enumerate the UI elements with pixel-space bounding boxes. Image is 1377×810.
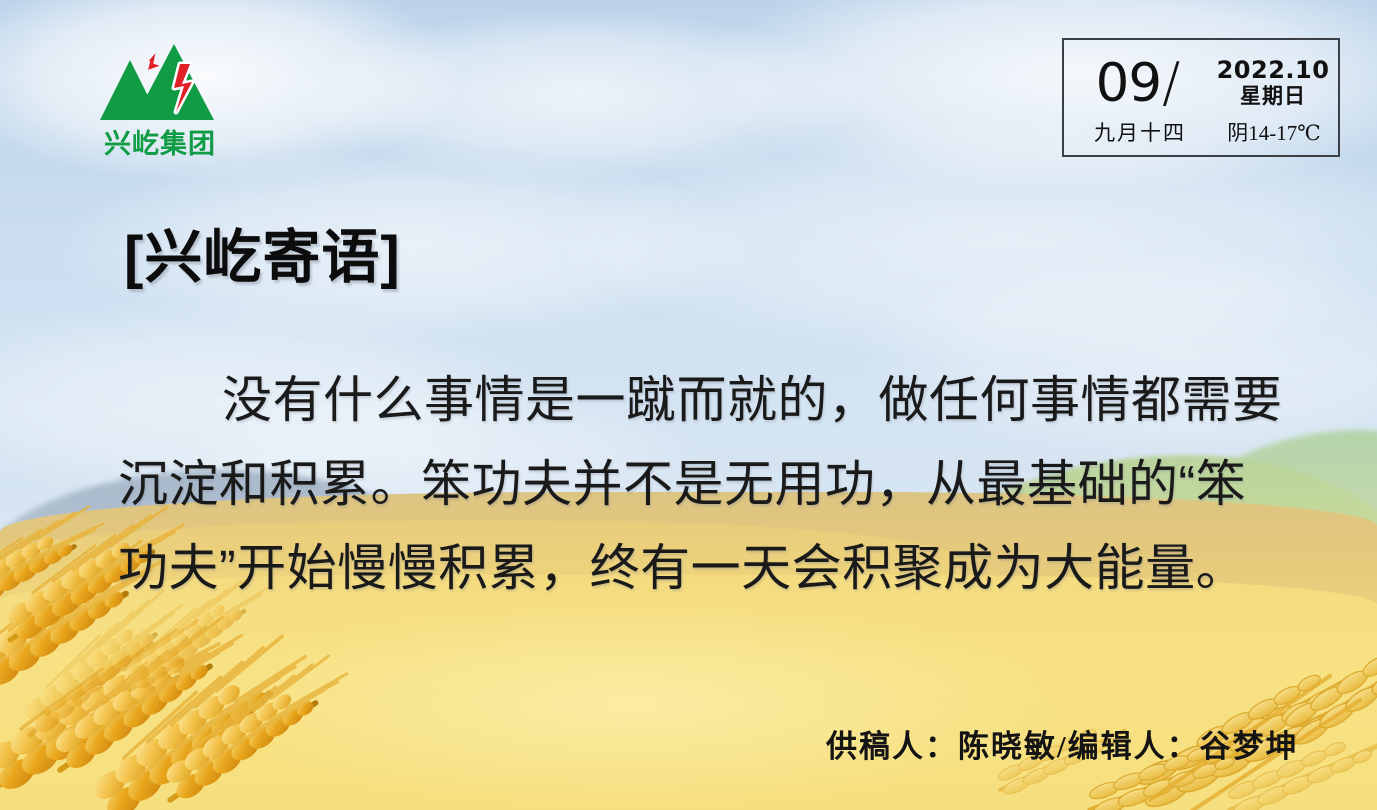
body-line-text: 没有什么事情是一蹴而就的，做任何事情都需要 — [222, 372, 1283, 428]
day-number: 09 — [1096, 57, 1161, 110]
poster-canvas: 兴屹集团 09 / 2022.10 星期日 九月十四 阴14-17℃ [兴屹寄语… — [0, 0, 1377, 810]
day-slash: / — [1162, 56, 1180, 110]
company-logo[interactable]: 兴屹集团 — [92, 38, 228, 164]
weather-info: 阴14-17℃ — [1216, 121, 1338, 145]
logo-wordmark: 兴屹集团 — [92, 128, 228, 160]
date-badge-bottom-row: 九月十四 阴14-17℃ — [1064, 121, 1338, 145]
day-group: 09 / — [1064, 56, 1212, 110]
lunar-date: 九月十四 — [1064, 121, 1216, 145]
body-line: 功夫”开始慢慢积累，终有一天会积聚成为大能量。 — [118, 526, 1318, 610]
body-line: 沉淀和积累。笨功夫并不是无用功，从最基础的“笨 — [118, 442, 1318, 526]
body-line: 没有什么事情是一蹴而就的，做任何事情都需要 — [118, 358, 1318, 442]
weekday: 星期日 — [1240, 84, 1306, 109]
body-copy: 没有什么事情是一蹴而就的，做任何事情都需要 沉淀和积累。笨功夫并不是无用功，从最… — [118, 358, 1318, 610]
field-highlight — [180, 600, 1080, 810]
cloud-shape — [300, 10, 860, 180]
page-title: [兴屹寄语] — [124, 222, 401, 294]
twin-mountain-lightning-star-icon — [92, 38, 228, 128]
year-month-group: 2022.10 星期日 — [1212, 57, 1338, 109]
date-badge-top-row: 09 / 2022.10 星期日 — [1064, 46, 1338, 120]
year-month: 2022.10 — [1217, 57, 1330, 84]
date-badge: 09 / 2022.10 星期日 九月十四 阴14-17℃ — [1062, 38, 1340, 157]
cloud-shape — [0, 0, 460, 180]
credit-line: 供稿人：陈晓敏/编辑人：谷梦坤 — [826, 728, 1299, 766]
